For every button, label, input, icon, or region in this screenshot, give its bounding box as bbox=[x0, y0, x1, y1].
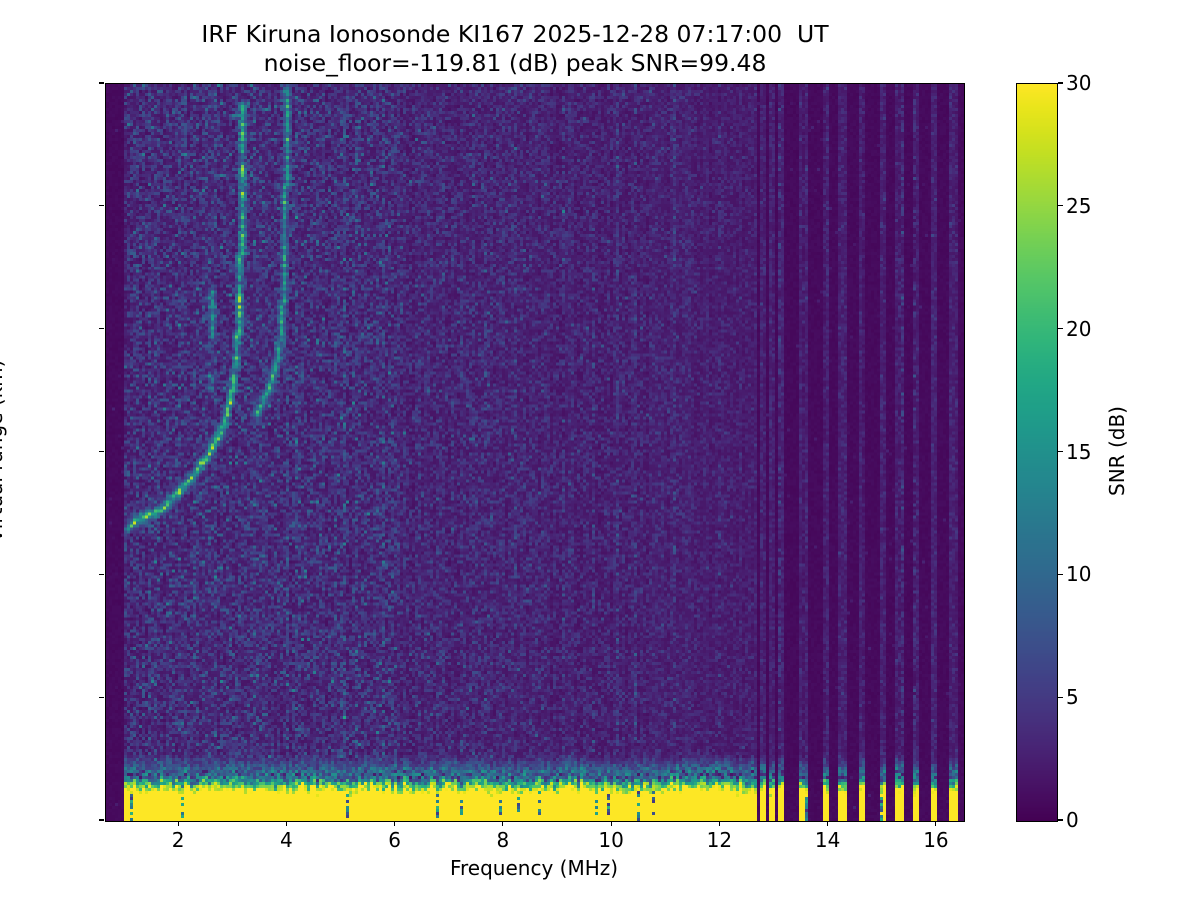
x-tick-mark bbox=[827, 821, 828, 826]
y-tick-mark bbox=[99, 451, 104, 452]
colorbar-tick-label: 5 bbox=[1066, 685, 1079, 709]
colorbar-tick-label: 10 bbox=[1066, 562, 1091, 586]
y-tick-mark bbox=[99, 574, 104, 575]
y-tick-mark bbox=[99, 819, 104, 820]
ionogram-figure: IRF Kiruna Ionosonde KI167 2025-12-28 07… bbox=[0, 0, 1200, 900]
title-line-1: IRF Kiruna Ionosonde KI167 2025-12-28 07… bbox=[0, 20, 1030, 49]
x-tick-mark bbox=[611, 821, 612, 826]
colorbar-tick-label: 25 bbox=[1066, 194, 1091, 218]
x-tick-label: 16 bbox=[923, 828, 948, 852]
colorbar-tick-label: 15 bbox=[1066, 440, 1091, 464]
colorbar-tick-mark bbox=[1058, 205, 1063, 206]
y-tick-mark bbox=[99, 82, 104, 83]
x-tick-label: 10 bbox=[598, 828, 623, 852]
x-tick-label: 14 bbox=[815, 828, 840, 852]
x-tick-mark bbox=[719, 821, 720, 826]
title-line-2: noise_floor=-119.81 (dB) peak SNR=99.48 bbox=[0, 49, 1030, 78]
colorbar-tick-mark bbox=[1058, 819, 1063, 820]
x-tick-mark bbox=[935, 821, 936, 826]
x-tick-label: 8 bbox=[496, 828, 509, 852]
x-axis-label: Frequency (MHz) bbox=[450, 856, 618, 880]
plot-title: IRF Kiruna Ionosonde KI167 2025-12-28 07… bbox=[0, 20, 1030, 77]
x-tick-label: 12 bbox=[707, 828, 732, 852]
colorbar bbox=[1016, 83, 1058, 822]
ionogram-plot-area bbox=[105, 83, 965, 822]
colorbar-tick-label: 0 bbox=[1066, 808, 1079, 832]
colorbar-tick-label: 30 bbox=[1066, 71, 1091, 95]
y-tick-mark bbox=[99, 205, 104, 206]
colorbar-label: SNR (dB) bbox=[1105, 406, 1129, 496]
colorbar-tick-mark bbox=[1058, 697, 1063, 698]
colorbar-gradient bbox=[1017, 84, 1057, 821]
colorbar-tick-mark bbox=[1058, 451, 1063, 452]
y-tick-mark bbox=[99, 328, 104, 329]
x-tick-mark bbox=[286, 821, 287, 826]
snr-heatmap bbox=[106, 84, 964, 821]
colorbar-tick-mark bbox=[1058, 574, 1063, 575]
x-tick-mark bbox=[394, 821, 395, 826]
colorbar-tick-label: 20 bbox=[1066, 317, 1091, 341]
colorbar-tick-mark bbox=[1058, 328, 1063, 329]
x-tick-mark bbox=[502, 821, 503, 826]
x-tick-label: 2 bbox=[172, 828, 185, 852]
x-tick-mark bbox=[178, 821, 179, 826]
colorbar-tick-mark bbox=[1058, 82, 1063, 83]
y-tick-mark bbox=[99, 697, 104, 698]
x-tick-label: 6 bbox=[388, 828, 401, 852]
y-axis-label: Virtual range (km) bbox=[0, 360, 7, 543]
x-tick-label: 4 bbox=[280, 828, 293, 852]
